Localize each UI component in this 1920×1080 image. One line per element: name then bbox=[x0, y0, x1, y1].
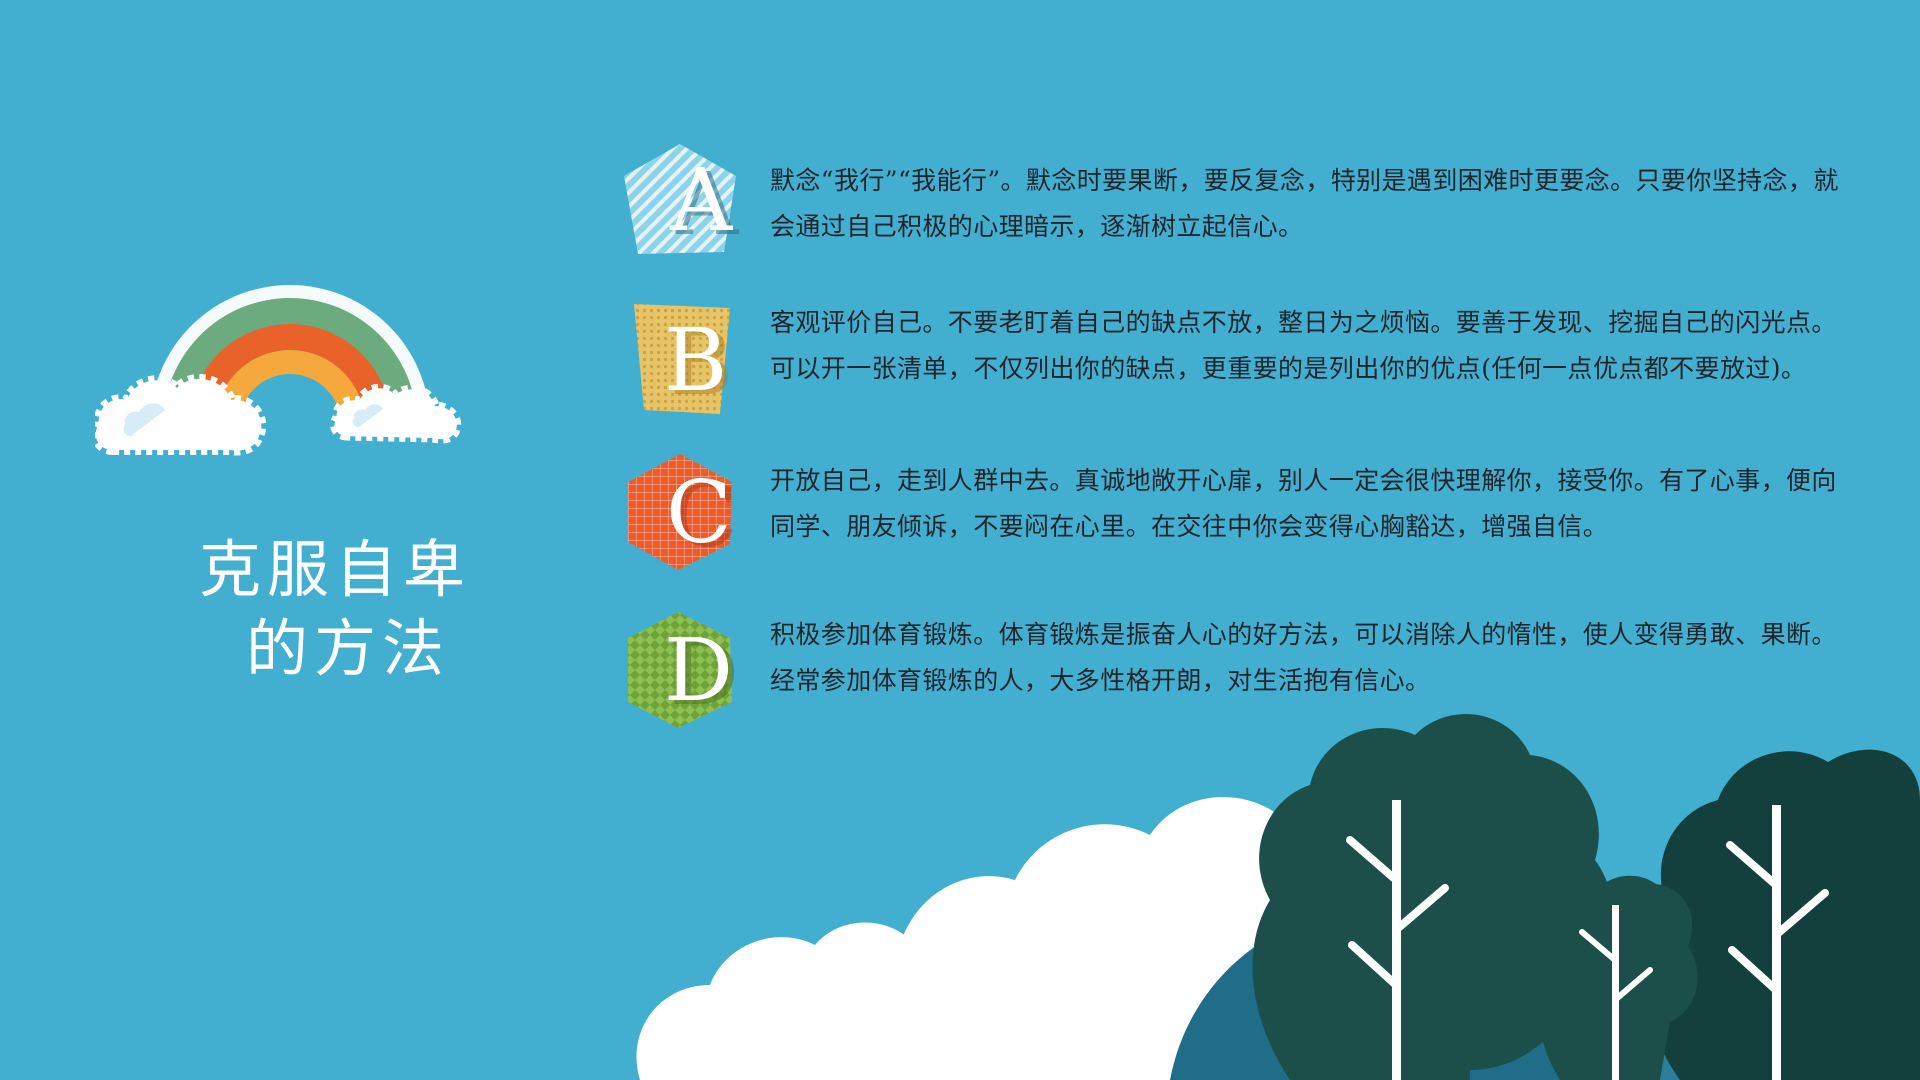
hill-front-right bbox=[1620, 930, 1920, 1080]
list-item: C C 开放自己，走到人群中去。真诚地敞开心扉，别人一定会很快理解你，接受你。有… bbox=[620, 448, 1880, 572]
hill-front bbox=[1170, 905, 1625, 1080]
slide-canvas: 克服自卑 的方法 A A 默念“我行” bbox=[0, 0, 1920, 1080]
item-text: 积极参加体育锻炼。体育锻炼是振奋人心的好方法，可以消除人的惰性，使人变得勇敢、果… bbox=[770, 602, 1860, 704]
tree-large-left bbox=[1253, 714, 1613, 1080]
badge-letter-b: B B bbox=[620, 300, 740, 420]
list-item: D D 积极参加体育锻炼。体育锻炼是振奋人心的好方法，可以消除人的惰性，使人变得… bbox=[620, 602, 1880, 730]
item-text: 客观评价自己。不要老盯着自己的缺点不放，整日为之烦恼。要善于发现、挖掘自己的闪光… bbox=[770, 290, 1860, 392]
cloud-cluster-bottom bbox=[636, 797, 1530, 1080]
badge-letter: B bbox=[664, 311, 727, 411]
item-paragraph: 积极参加体育锻炼。体育锻炼是振奋人心的好方法，可以消除人的惰性，使人变得勇敢、果… bbox=[770, 612, 1860, 704]
hill-mid bbox=[1560, 840, 1920, 1080]
badge-letter-a: A A bbox=[620, 142, 740, 262]
badge-letter-d: D D bbox=[620, 610, 740, 730]
list-item: B B 客观评价自己。不要老盯着自己的缺点不放，整日为之烦恼。要善于发现、挖掘自… bbox=[620, 290, 1880, 420]
tree-small bbox=[1539, 876, 1697, 1080]
rainbow-illustration bbox=[95, 240, 515, 480]
item-text: 开放自己，走到人群中去。真诚地敞开心扉，别人一定会很快理解你，接受你。有了心事，… bbox=[770, 448, 1860, 550]
method-list: A A 默念“我行”“我能行”。默念时要果断，要反复念，特别是遇到困难时更要念。… bbox=[620, 140, 1880, 758]
hill-far bbox=[1270, 880, 1780, 1080]
item-text: 默念“我行”“我能行”。默念时要果断，要反复念，特别是遇到困难时更要念。只要你坚… bbox=[770, 140, 1860, 250]
list-item: A A 默念“我行”“我能行”。默念时要果断，要反复念，特别是遇到困难时更要念。… bbox=[620, 140, 1880, 262]
item-paragraph: 默念“我行”“我能行”。默念时要果断，要反复念，特别是遇到困难时更要念。只要你坚… bbox=[770, 158, 1860, 250]
tree-large-right bbox=[1646, 750, 1920, 1080]
title-line-2: 的方法 bbox=[146, 609, 550, 688]
title-line-1: 克服自卑 bbox=[120, 530, 550, 609]
slide-title: 克服自卑 的方法 bbox=[120, 530, 550, 689]
item-paragraph: 客观评价自己。不要老盯着自己的缺点不放，整日为之烦恼。要善于发现、挖掘自己的闪光… bbox=[770, 300, 1860, 392]
item-paragraph: 开放自己，走到人群中去。真诚地敞开心扉，别人一定会很快理解你，接受你。有了心事，… bbox=[770, 458, 1860, 550]
badge-letter: C bbox=[666, 463, 732, 563]
badge-letter: A bbox=[669, 151, 733, 251]
badge-letter-c: C C bbox=[620, 452, 740, 572]
badge-letter: D bbox=[664, 621, 733, 721]
